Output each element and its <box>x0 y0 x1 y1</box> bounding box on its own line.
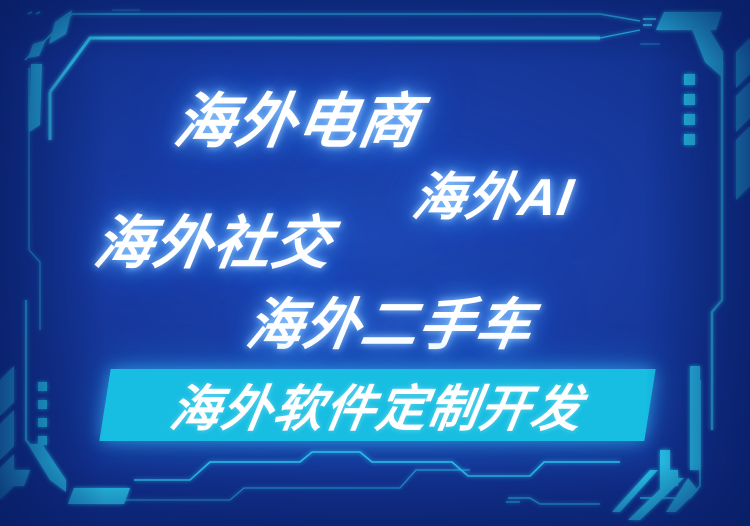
headline-overseas-social: 海外社交 <box>89 196 339 280</box>
headline-overseas-used-cars: 海外二手车 <box>242 280 540 361</box>
headline-overseas-ai: 海外AI <box>408 155 580 230</box>
ribbon-label-overseas-software-custom-development: 海外软件定制开发 <box>99 369 655 441</box>
headline-stack: 海外电商 海外AI 海外社交 海外二手车 <box>0 0 750 526</box>
promo-poster: 海外电商 海外AI 海外社交 海外二手车 海外软件定制开发 <box>0 0 750 526</box>
headline-overseas-ecommerce: 海外电商 <box>169 73 428 160</box>
